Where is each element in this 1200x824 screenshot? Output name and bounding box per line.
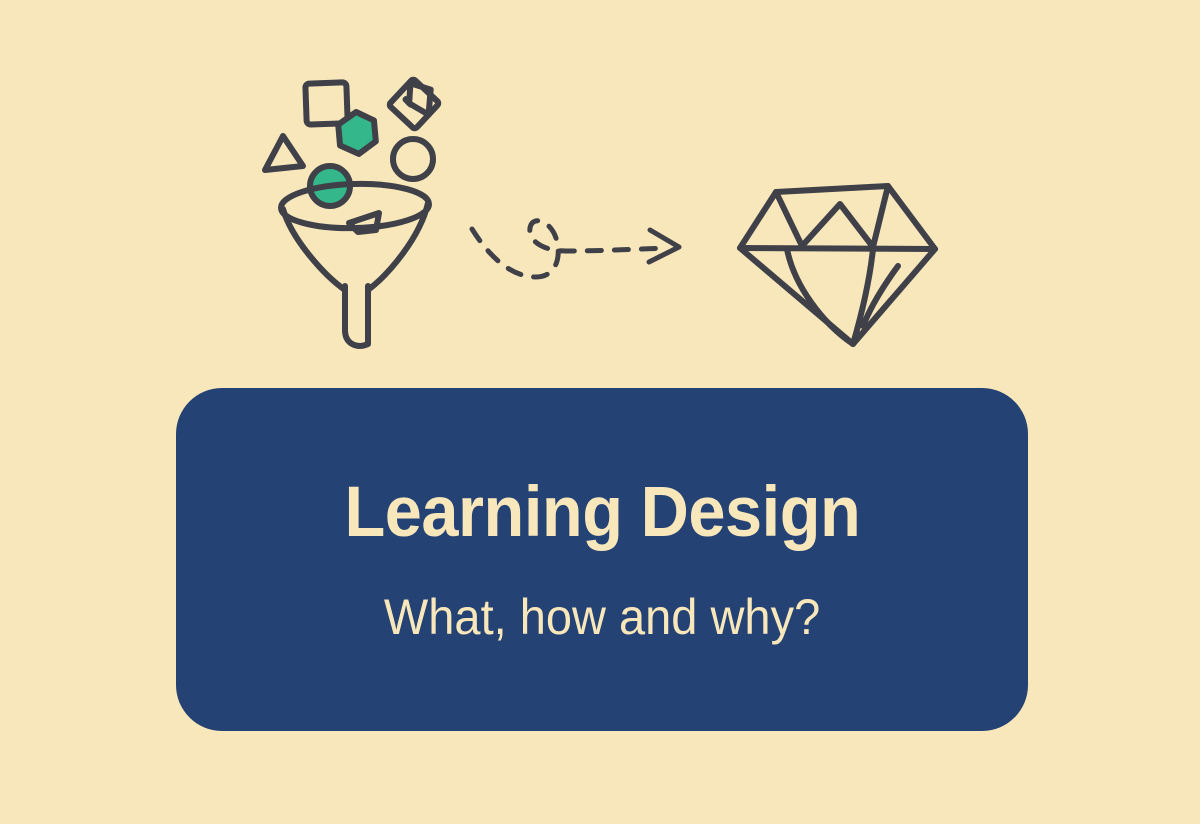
- funnel-body: [283, 203, 428, 290]
- slide-canvas: Learning Design What, how and why?: [0, 0, 1200, 824]
- gem-pavilion-right: [853, 249, 873, 344]
- title-card: Learning Design What, how and why?: [176, 388, 1028, 731]
- page-subtitle: What, how and why?: [384, 592, 820, 642]
- square-shape: [305, 82, 347, 124]
- diamond-rotated-square: [389, 79, 440, 130]
- hexagon-shape: [337, 111, 377, 156]
- circle-outline-shape: [393, 139, 433, 179]
- gem-sparkle-line: [863, 266, 898, 326]
- funnel-rim: [280, 182, 429, 230]
- gem-outline: [740, 186, 935, 344]
- gem-table-line: [740, 248, 935, 249]
- trapezoid-in-funnel: [349, 213, 379, 232]
- diamond-shape: [408, 83, 431, 116]
- arrow-head: [649, 230, 679, 262]
- gem-icon: [740, 186, 935, 344]
- page-title: Learning Design: [344, 477, 860, 548]
- gem-pavilion-left: [787, 249, 853, 344]
- diamond-outline-shape: [0, 0, 411, 105]
- triangle-shape: [265, 136, 303, 170]
- gem-crown-facets: [776, 186, 888, 247]
- green-circle-shape: [310, 166, 350, 206]
- dashed-looping-arrow: [472, 221, 668, 277]
- funnel-stem: [345, 286, 368, 346]
